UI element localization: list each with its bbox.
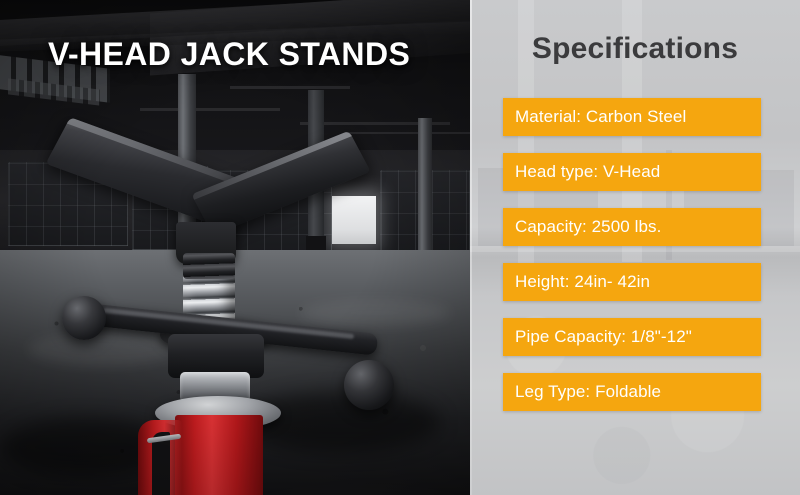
page-title: V-HEAD JACK STANDS — [48, 36, 438, 73]
product-photo-panel: V-HEAD JACK STANDS — [0, 0, 470, 495]
specifications-panel: Specifications Material: Carbon Steel He… — [470, 0, 800, 495]
spec-text-height: Height: 24in- 42in — [503, 272, 650, 292]
spec-row-material: Material: Carbon Steel — [503, 98, 761, 136]
spec-row-pipe-capacity: Pipe Capacity: 1/8"-12" — [503, 318, 761, 356]
jack-stand-product — [0, 0, 470, 495]
spec-text-leg-type: Leg Type: Foldable — [503, 382, 661, 402]
spec-text-head-type: Head type: V-Head — [503, 162, 660, 182]
specifications-heading: Specifications — [470, 32, 800, 66]
red-support-post — [175, 415, 263, 495]
spec-row-capacity: Capacity: 2500 lbs. — [503, 208, 761, 246]
v-head-right-wing — [191, 131, 370, 236]
spec-row-leg-type: Leg Type: Foldable — [503, 373, 761, 411]
specifications-list: Material: Carbon Steel Head type: V-Head… — [503, 98, 761, 428]
screw-shaft-upper-black — [183, 253, 235, 279]
product-infographic: V-HEAD JACK STANDS Specifications Materi… — [0, 0, 800, 495]
panel-divider — [470, 0, 472, 495]
spec-text-material: Material: Carbon Steel — [503, 107, 686, 127]
spec-row-head-type: Head type: V-Head — [503, 153, 761, 191]
t-handle-ball-right — [344, 360, 394, 410]
spec-row-height: Height: 24in- 42in — [503, 263, 761, 301]
spec-text-pipe-capacity: Pipe Capacity: 1/8"-12" — [503, 327, 692, 347]
v-head-right-edge — [191, 131, 351, 200]
spec-text-capacity: Capacity: 2500 lbs. — [503, 217, 661, 237]
t-handle-ball-left — [62, 296, 106, 340]
